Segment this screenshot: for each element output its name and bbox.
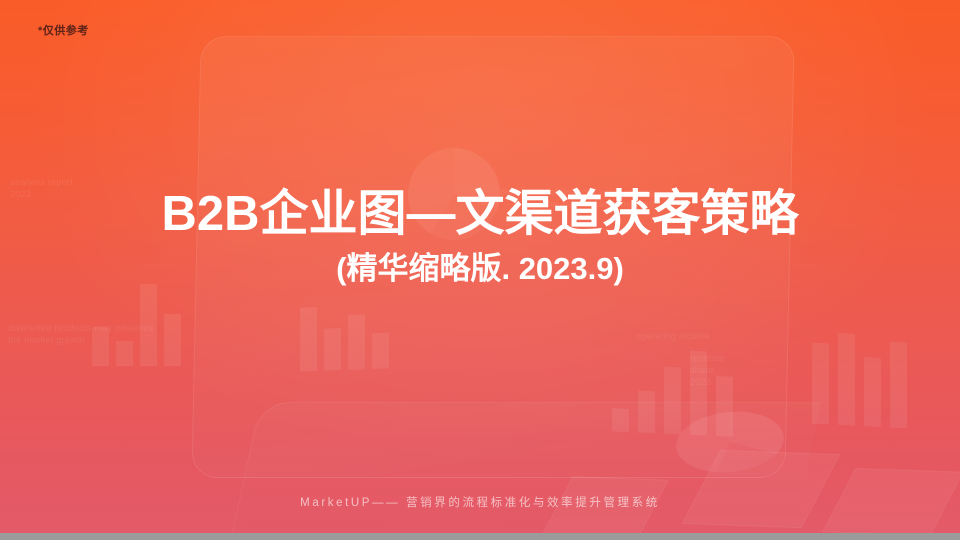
- ghost-text-line: revenue share 2023: [690, 352, 840, 388]
- title-slide: distribution of financial value among th…: [0, 0, 960, 540]
- desk-edge-silhouette: [232, 402, 821, 533]
- ghost-bar-chart-mid: [300, 290, 389, 371]
- ghost-text-line: diversified products may influence the m…: [8, 322, 208, 346]
- ghost-text-line: operating income: [636, 330, 756, 342]
- ghost-pie-chart-lower: [673, 407, 787, 478]
- title-block: B2B企业图—文渠道获客策略 (精华缩略版. 2023.9): [0, 186, 960, 287]
- footer-tagline: MarketUP—— 营销界的流程标准化与效率提升管理系统: [0, 494, 960, 510]
- page-title: B2B企业图—文渠道获客策略: [0, 186, 960, 244]
- reference-note: *仅供参考: [38, 22, 89, 38]
- ghost-bar-chart-left: [92, 282, 181, 366]
- ghost-paper-sheet: [682, 450, 841, 528]
- ghost-bar-chart-far-right: [812, 328, 907, 429]
- ghost-bar-chart-right: [612, 335, 733, 436]
- page-subtitle: (精华缩略版. 2023.9): [0, 250, 960, 287]
- bottom-bar: [0, 533, 960, 540]
